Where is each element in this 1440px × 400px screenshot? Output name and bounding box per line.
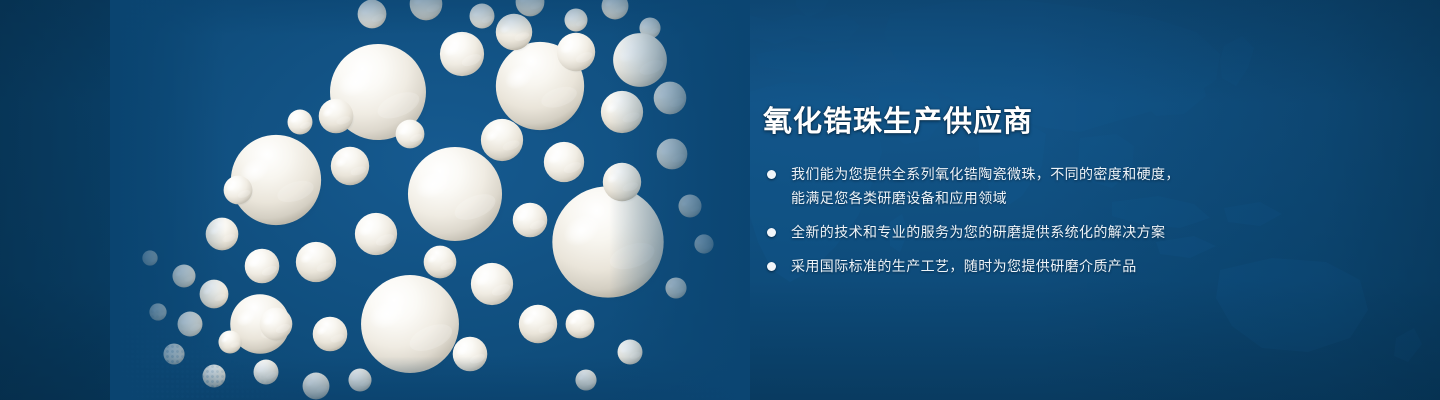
feature-list-item: 全新的技术和专业的服务为您的研磨提供系统化的解决方案: [763, 220, 1233, 244]
feature-text-line: 能满足您各类研磨设备和应用领域: [791, 186, 1233, 210]
zirconia-beads-photo: [110, 0, 750, 400]
feature-text-line: 全新的技术和专业的服务为您的研磨提供系统化的解决方案: [791, 220, 1233, 244]
banner-copy: 氧化锆珠生产供应商 我们能为您提供全系列氧化锆陶瓷微珠，不同的密度和硬度， 能满…: [763, 104, 1233, 278]
feature-text-line: 我们能为您提供全系列氧化锆陶瓷微珠，不同的密度和硬度，: [791, 162, 1233, 186]
feature-list-item: 我们能为您提供全系列氧化锆陶瓷微珠，不同的密度和硬度， 能满足您各类研磨设备和应…: [763, 162, 1233, 210]
product-banner: 氧化锆珠生产供应商 我们能为您提供全系列氧化锆陶瓷微珠，不同的密度和硬度， 能满…: [0, 0, 1440, 400]
bullet-dot-icon: [767, 170, 776, 179]
bullet-dot-icon: [767, 228, 776, 237]
feature-list-item: 采用国际标准的生产工艺，随时为您提供研磨介质产品: [763, 254, 1233, 278]
feature-text-line: 采用国际标准的生产工艺，随时为您提供研磨介质产品: [791, 254, 1233, 278]
banner-headline: 氧化锆珠生产供应商: [763, 104, 1233, 140]
feature-list: 我们能为您提供全系列氧化锆陶瓷微珠，不同的密度和硬度， 能满足您各类研磨设备和应…: [763, 162, 1233, 278]
bullet-dot-icon: [767, 262, 776, 271]
